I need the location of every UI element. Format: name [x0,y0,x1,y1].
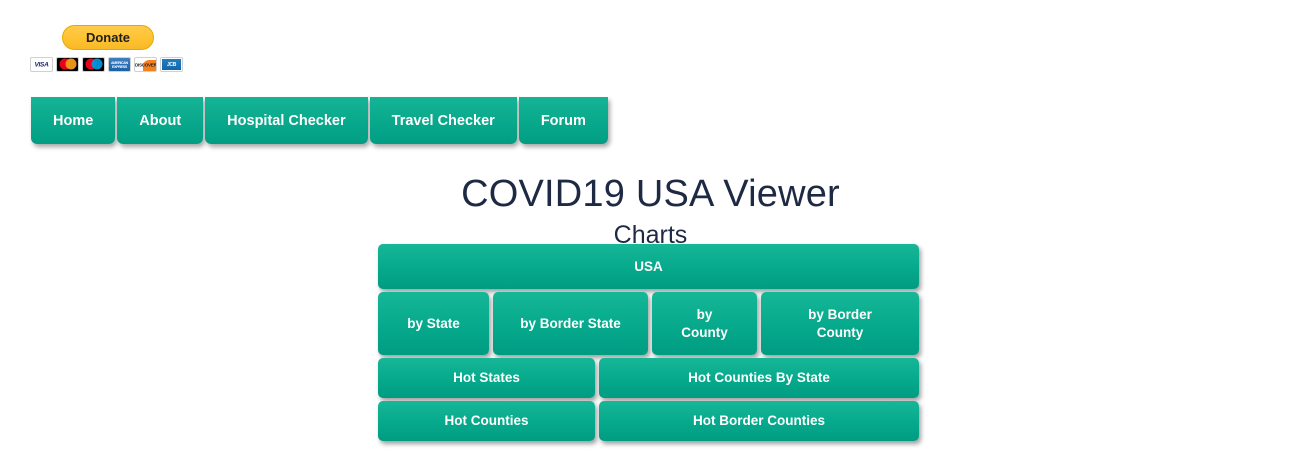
maestro-circles-icon [85,58,102,69]
jcb-card-icon: JCB [160,57,183,72]
chart-button-by-county-label-line2: County [681,324,728,342]
chart-button-by-border-county-label: by Border County [808,306,872,342]
chart-button-by-state-label: by State [407,315,460,333]
nav-item-hospital-checker[interactable]: Hospital Checker [205,97,367,144]
chart-button-hot-states[interactable]: Hot States [378,358,595,398]
nav-item-travel-checker[interactable]: Travel Checker [370,97,517,144]
chart-button-row-hot-counties: Hot Counties Hot Border Counties [378,401,919,441]
nav-item-home[interactable]: Home [31,97,115,144]
chart-button-row-usa: USA [378,244,919,289]
chart-button-by-county[interactable]: by County [652,292,757,355]
chart-button-by-county-label-line1: by [697,306,713,324]
nav-item-home-label: Home [53,113,93,129]
mastercard-circles-icon [59,58,76,69]
main-navigation: Home About Hospital Checker Travel Check… [31,97,608,144]
chart-button-usa-label: USA [634,258,663,276]
visa-card-icon: VISA [30,57,53,72]
chart-button-hot-border-counties-label: Hot Border Counties [693,412,825,430]
nav-item-forum-label: Forum [541,113,586,129]
chart-button-hot-counties-by-state[interactable]: Hot Counties By State [599,358,919,398]
visa-card-label: VISA [31,61,52,68]
chart-button-by-county-label: by County [681,306,728,342]
amex-card-label: AMERICAN EXPRESS [109,61,130,69]
jcb-card-label: JCB [161,62,182,68]
discover-card-icon: DISCOVER [134,57,157,72]
chart-button-grid: USA by State by Border State by County b… [378,244,919,441]
chart-button-hot-counties-label: Hot Counties [445,412,529,430]
nav-item-hospital-checker-label: Hospital Checker [227,113,345,129]
chart-button-by-border-county[interactable]: by Border County [761,292,919,355]
nav-item-about-label: About [139,113,181,129]
chart-button-usa[interactable]: USA [378,244,919,289]
donate-button[interactable]: Donate [62,25,154,50]
nav-item-forum[interactable]: Forum [519,97,608,144]
chart-button-row-hot-states: Hot States Hot Counties By State [378,358,919,398]
accepted-cards-row: VISA AMERICAN EXPRESS DISCOVER JCB [28,57,188,72]
chart-button-by-border-state-label: by Border State [520,315,621,333]
discover-card-label: DISCOVER [135,62,156,67]
chart-button-by-border-county-label-line2: County [817,324,864,342]
chart-button-by-border-county-label-line1: by Border [808,306,872,324]
chart-button-hot-counties-by-state-label: Hot Counties By State [688,369,830,387]
chart-button-by-state[interactable]: by State [378,292,489,355]
chart-button-by-border-state[interactable]: by Border State [493,292,648,355]
american-express-card-icon: AMERICAN EXPRESS [108,57,131,72]
maestro-card-icon [82,57,105,72]
chart-button-row-scope: by State by Border State by County by Bo… [378,292,919,355]
chart-button-hot-counties[interactable]: Hot Counties [378,401,595,441]
page-title: COVID19 USA Viewer [0,173,1301,216]
chart-button-hot-border-counties[interactable]: Hot Border Counties [599,401,919,441]
nav-item-about[interactable]: About [117,97,203,144]
donate-widget: Donate VISA AMERICAN EXPRESS DISCOVER JC… [28,25,188,72]
mastercard-card-icon [56,57,79,72]
chart-button-hot-states-label: Hot States [453,369,520,387]
nav-item-travel-checker-label: Travel Checker [392,113,495,129]
